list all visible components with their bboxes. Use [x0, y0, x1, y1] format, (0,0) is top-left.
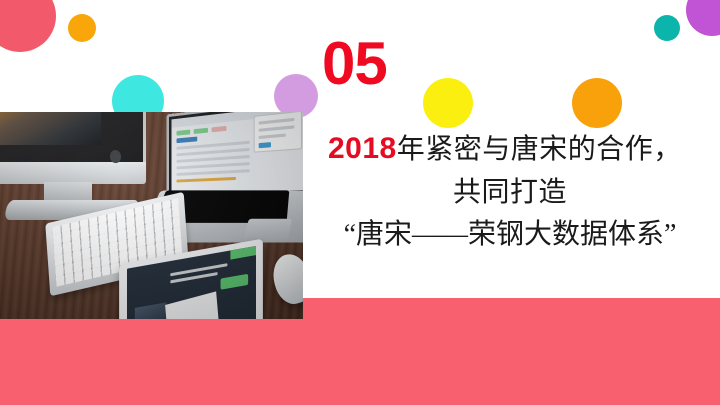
decorative-circle-magenta [686, 0, 720, 36]
presentation-slide: 05 2018年紧密与唐宋的合作， 共同打造 “唐宋——荣钢大数据体系” [0, 0, 720, 405]
imac-wallpaper [0, 112, 101, 145]
section-number: 05 [322, 34, 387, 94]
ipad-ui-photo [135, 302, 167, 319]
macbook-ui-chip [259, 142, 271, 148]
macbook-lid [167, 112, 303, 200]
macbook-screen-ui [172, 112, 303, 194]
decorative-circle-yellow [423, 78, 473, 128]
headline-year: 2018 [328, 132, 397, 165]
macbook-trackpad [243, 219, 292, 240]
decorative-circle-teal [654, 15, 680, 41]
headline-line-1-rest: 年紧密与唐宋的合作， [397, 134, 682, 165]
macbook-ui-row [177, 177, 236, 182]
desk-photo [0, 112, 303, 319]
imac-chin [0, 162, 146, 184]
decorative-circle-orange-large [572, 78, 622, 128]
macbook-ui-row [177, 162, 250, 169]
headline-line-1: 2018年紧密与唐宋的合作， [310, 126, 710, 172]
macbook-ui-chip [194, 128, 208, 134]
apple-logo-icon [110, 150, 122, 164]
ipad-ui-button [221, 274, 249, 290]
desk-photo-content [0, 112, 303, 319]
macbook-ui-popover [254, 112, 302, 153]
headline-line-3: “唐宋——荣钢大数据体系” [310, 214, 710, 257]
macbook-ui-chip [177, 137, 198, 144]
macbook-ui-row [177, 155, 250, 163]
headline-line-2: 共同打造 [310, 172, 710, 215]
decorative-circle-coral-top-left [0, 0, 56, 52]
macbook-ui-chip [177, 130, 191, 136]
decorative-circle-orange-small [68, 14, 96, 42]
ipad-ui-card [165, 291, 219, 319]
headline-text-block: 2018年紧密与唐宋的合作， 共同打造 “唐宋——荣钢大数据体系” [310, 126, 710, 257]
macbook-ui-row [259, 134, 286, 139]
macbook-ui-chip [212, 126, 227, 132]
macbook-ui-row [259, 118, 295, 125]
ipad-ui-accent-bar [230, 246, 256, 260]
macbook-ui-row [259, 125, 295, 132]
imac-display [0, 112, 146, 165]
macbook-ui-row [177, 169, 250, 176]
